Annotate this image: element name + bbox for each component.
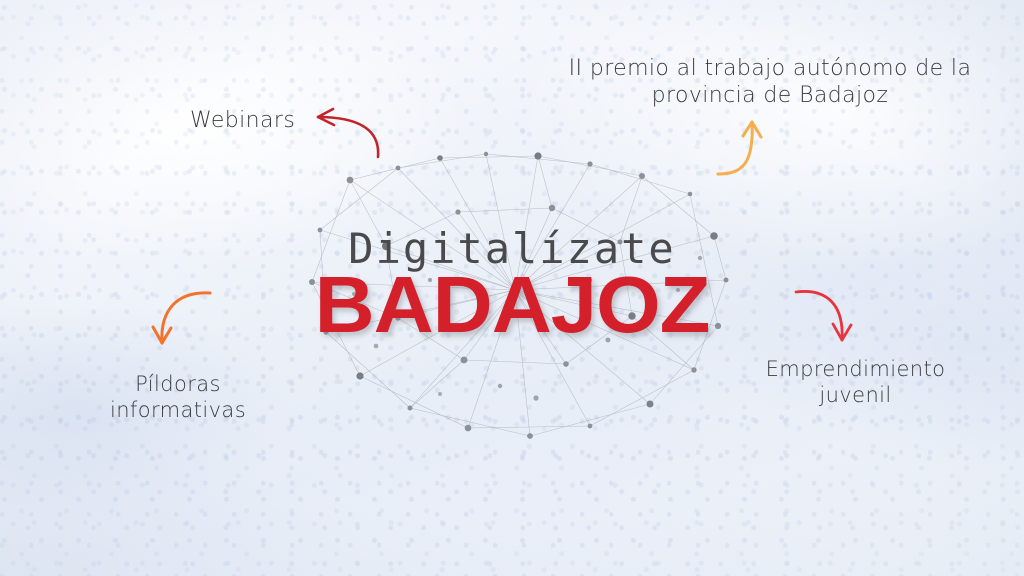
poster-canvas: Digitalízate BADAJOZ Webinars II premio … [0,0,1024,576]
footer-bar: www.ata.es 900 903 775 DIPUTACIÓN [0,470,1024,534]
arrow-premio-icon [712,112,772,182]
callout-label-premio: II premio al trabajo autónomo de la prov… [560,56,980,110]
callout-label-emprendimiento: Emprendimiento juvenil [748,357,963,408]
page-title: BADAJOZ [0,268,1024,342]
callout-label-webinars: Webinars [190,108,295,135]
callout-label-pildoras: Píldoras informativas [88,372,268,423]
arrow-webinars-icon [300,105,390,160]
title-lockup: Digitalízate BADAJOZ [0,228,1024,342]
